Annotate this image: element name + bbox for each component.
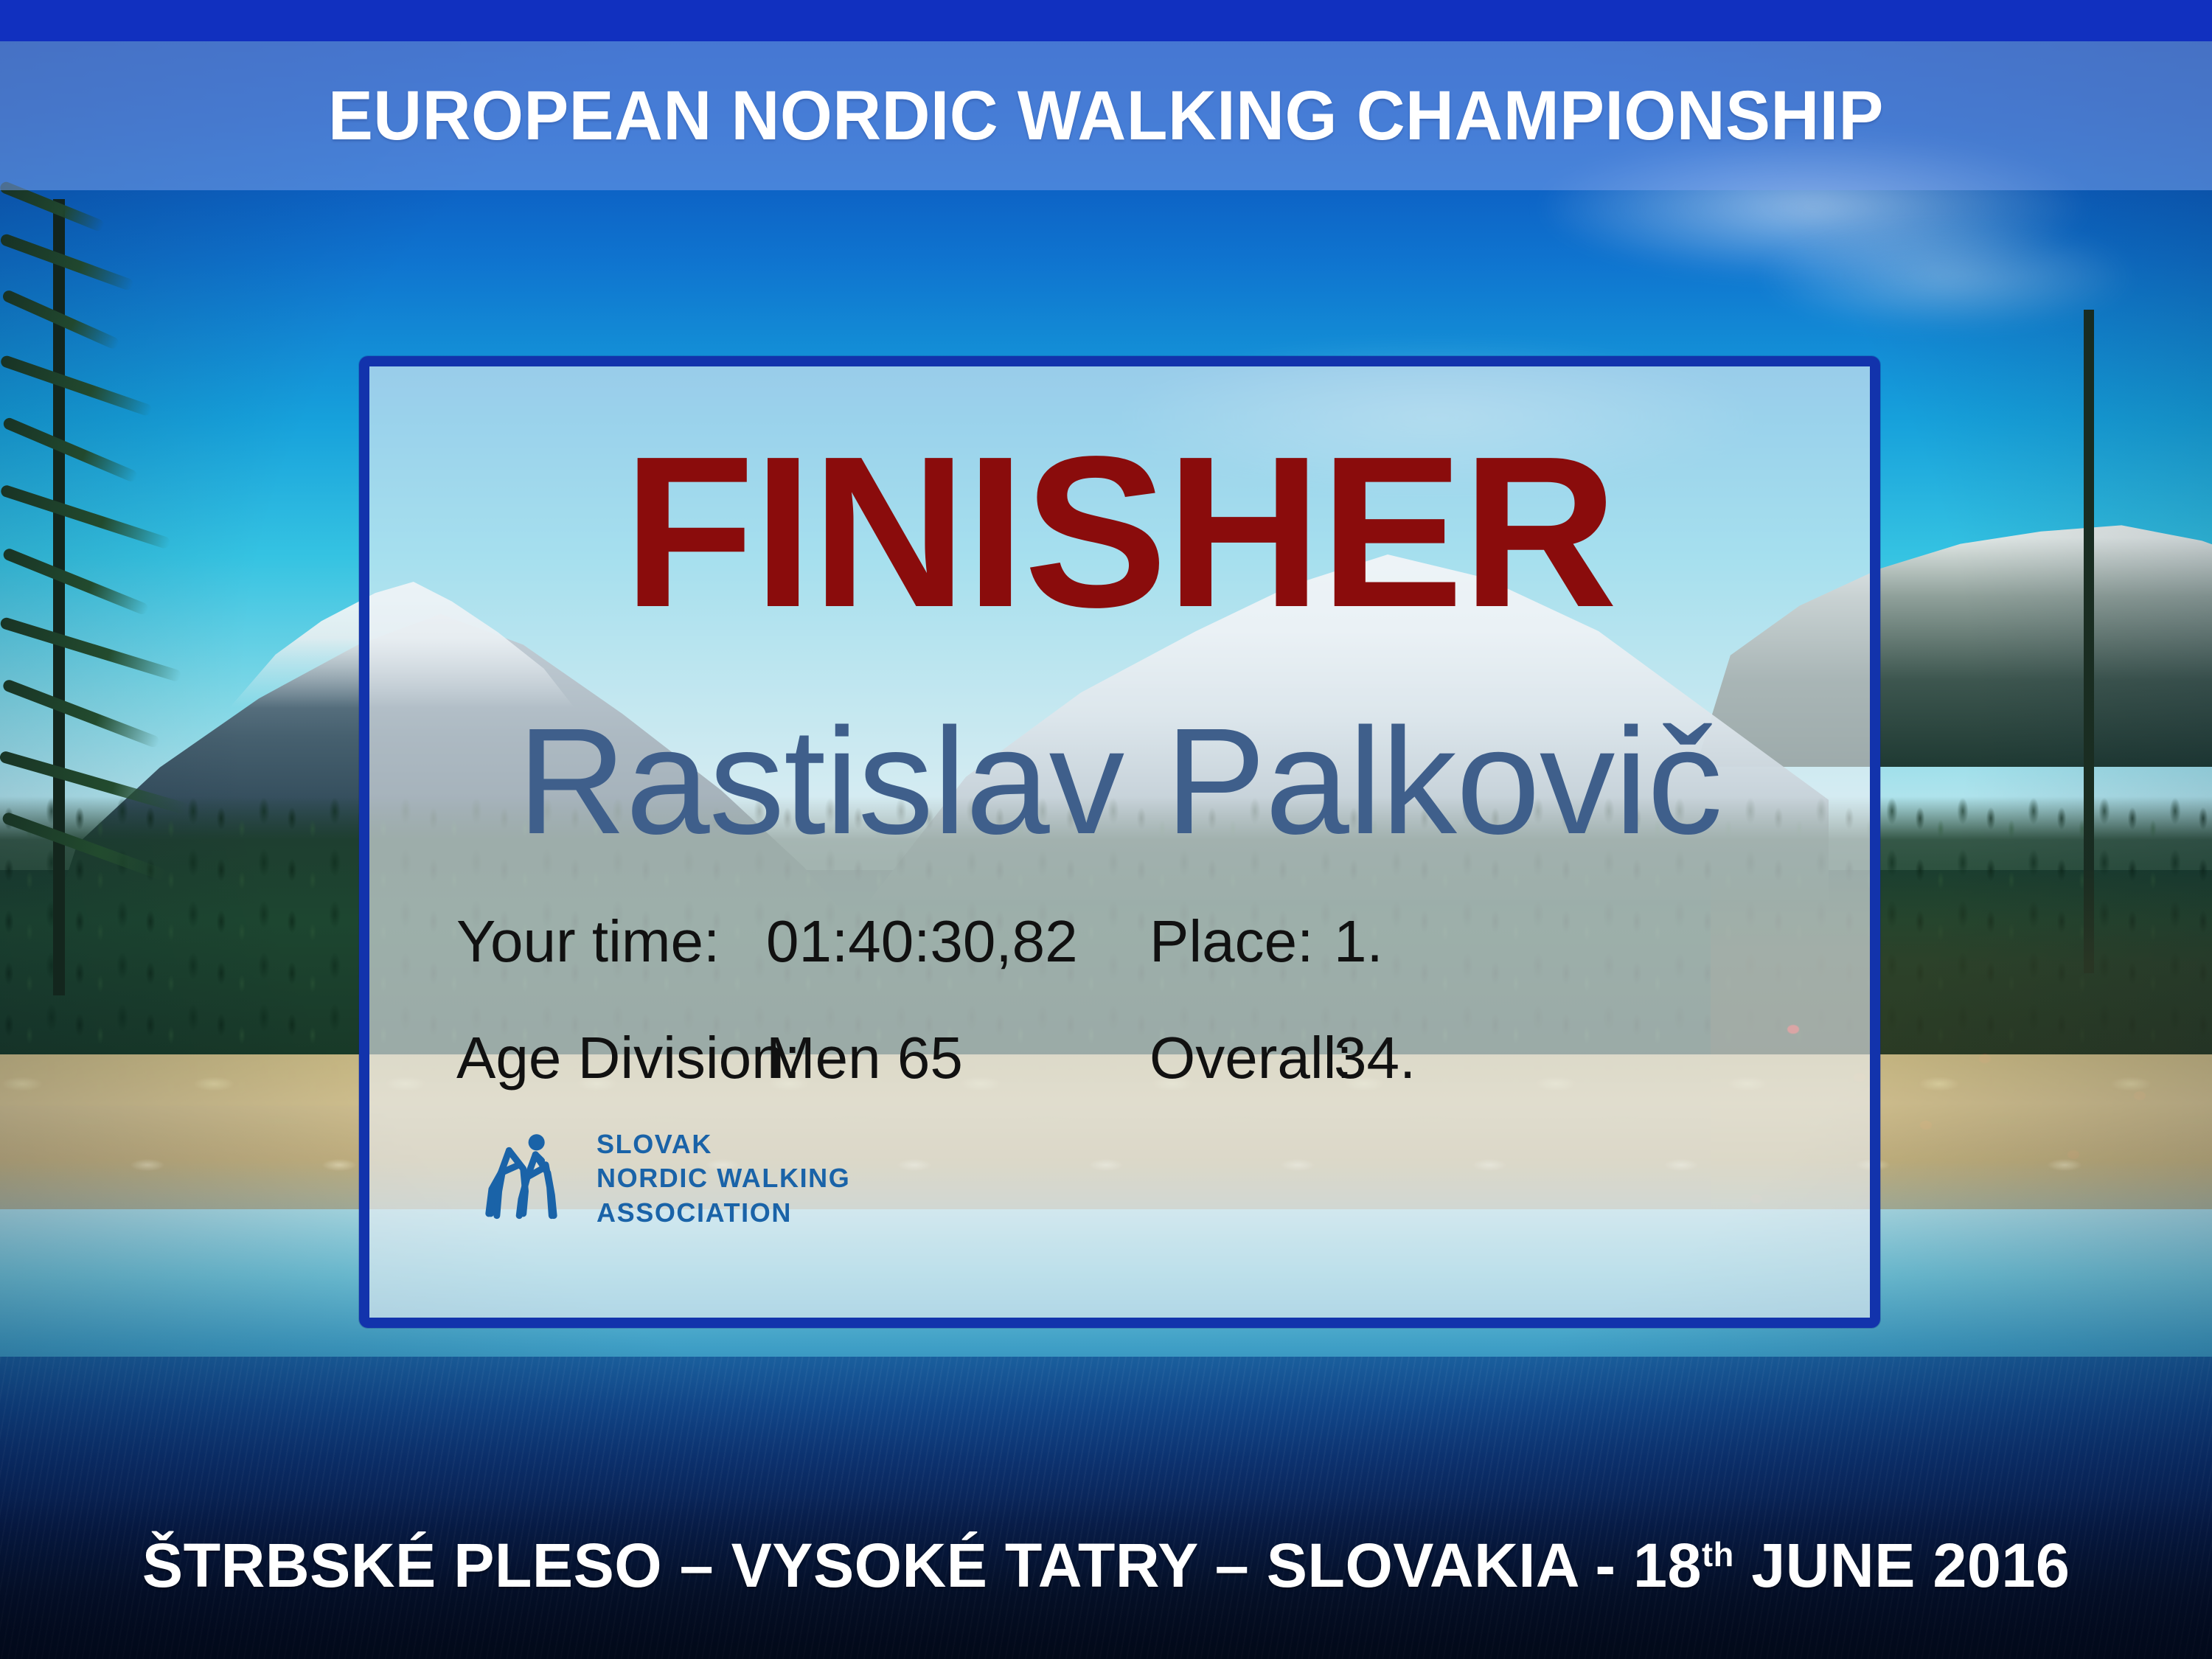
your-time-value: 01:40:30,82 xyxy=(766,912,1150,971)
age-division-value: Men 65 xyxy=(766,1029,1150,1088)
ordinal-suffix: th xyxy=(1702,1535,1734,1573)
event-location-date: ŠTRBSKÉ PLESO – VYSOKÉ TATRY – SLOVAKIA … xyxy=(142,1530,2070,1601)
place-label: Place: xyxy=(1150,912,1334,971)
status-title: FINISHER xyxy=(369,424,1870,639)
logo-line-2: NORDIC WALKING xyxy=(597,1163,850,1193)
overall-label: Overall: xyxy=(1150,1029,1334,1088)
footer-band: ŠTRBSKÉ PLESO – VYSOKÉ TATRY – SLOVAKIA … xyxy=(0,1497,2212,1659)
overall-value: 34. xyxy=(1334,1029,1416,1088)
result-row: Your time: 01:40:30,82 Place: 1. xyxy=(456,912,1811,971)
place-value: 1. xyxy=(1334,912,1383,971)
athlete-name: Rastislav Palkovič xyxy=(369,706,1870,857)
page-title: EUROPEAN NORDIC WALKING CHAMPIONSHIP xyxy=(328,76,1884,156)
top-accent-strip xyxy=(0,0,2212,41)
age-division-label: Age Division: xyxy=(456,1029,766,1088)
logo-line-3: ASSOCIATION xyxy=(597,1197,792,1228)
your-time-label: Your time: xyxy=(456,912,766,971)
result-row: Age Division: Men 65 Overall: 34. xyxy=(456,1029,1811,1088)
certificate-card: FINISHER Rastislav Palkovič Your time: 0… xyxy=(359,356,1880,1328)
nordic-walker-icon xyxy=(479,1128,580,1230)
footer-text-prefix: ŠTRBSKÉ PLESO – VYSOKÉ TATRY – SLOVAKIA … xyxy=(142,1531,1702,1600)
slovak-nordic-walking-association-logo: SLOVAK NORDIC WALKING ASSOCIATION xyxy=(479,1127,850,1231)
header-band: EUROPEAN NORDIC WALKING CHAMPIONSHIP xyxy=(0,41,2212,190)
conifer-tree-left xyxy=(0,111,295,1032)
result-details: Your time: 01:40:30,82 Place: 1. Age Div… xyxy=(456,912,1811,1145)
logo-wordmark: SLOVAK NORDIC WALKING ASSOCIATION xyxy=(597,1127,850,1231)
finisher-certificate: EUROPEAN NORDIC WALKING CHAMPIONSHIP FIN… xyxy=(0,0,2212,1659)
logo-line-1: SLOVAK xyxy=(597,1129,712,1159)
footer-text-suffix: JUNE 2016 xyxy=(1734,1531,2070,1600)
